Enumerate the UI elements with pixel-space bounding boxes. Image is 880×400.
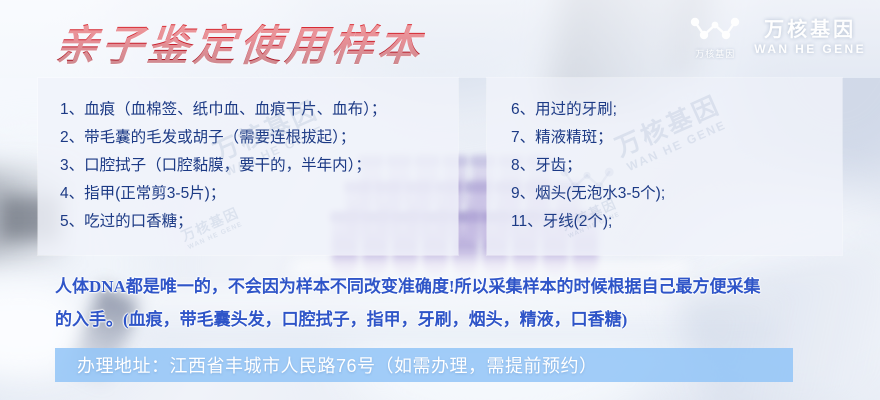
list-item: 9、烟头(无泡水3-5个);	[487, 180, 842, 208]
brand-logo: 万核基因 万核基因 WAN HE GENE	[688, 12, 866, 64]
page-title: 亲子鉴定使用样本	[53, 12, 427, 73]
molecule-icon	[688, 16, 742, 44]
address-text: 办理地址：江西省丰城市人民路76号（如需办理，需提前预约）	[55, 352, 598, 378]
logo-wordmark: 万核基因 WAN HE GENE	[754, 20, 866, 57]
list-item: 5、吃过的口香糖；	[38, 208, 458, 236]
poster-root: 亲子鉴定使用样本	[0, 0, 880, 400]
brand-name-cn: 万核基因	[764, 20, 856, 42]
list-item: 1、血痕（血棉签、纸巾血、血痕干片、血布）；	[38, 96, 458, 124]
note-line: 的入手。(血痕，带毛囊头发，口腔拭子，指甲，牙刷，烟头，精液，口香糖)	[55, 303, 845, 336]
sample-list-left: 1、血痕（血棉签、纸巾血、血痕干片、血布）； 2、带毛囊的毛发或胡子（需要连根拔…	[38, 78, 458, 236]
brand-name-en: WAN HE GENE	[754, 43, 866, 56]
list-item: 11、牙线(2个);	[487, 208, 842, 236]
list-item: 2、带毛囊的毛发或胡子（需要连根拔起）；	[38, 124, 458, 152]
list-item: 7、精液精斑；	[487, 124, 842, 152]
logo-mark: 万核基因	[688, 16, 742, 60]
watermark-molecule-icon	[557, 164, 617, 203]
sample-panel-right: 万核基因 WAN HE GENE 万核基因 WAN HE GENE	[487, 78, 842, 255]
list-item: 6、用过的牙刷;	[487, 96, 842, 124]
note-line: 人体DNA都是唯一的，不会因为样本不同改变准确度!所以采集样本的时候根据自己最方…	[55, 270, 845, 303]
list-item: 3、口腔拭子（口腔黏膜，要干的，半年内）；	[38, 152, 458, 180]
list-item: 4、指甲(正常剪3-5片)；	[38, 180, 458, 208]
sample-list-right: 6、用过的牙刷; 7、精液精斑； 8、牙齿； 9、烟头(无泡水3-5个); 11…	[487, 78, 842, 236]
logo-mark-label: 万核基因	[695, 47, 735, 60]
note-paragraph: 人体DNA都是唯一的，不会因为样本不同改变准确度!所以采集样本的时候根据自己最方…	[55, 270, 845, 336]
list-item: 8、牙齿；	[487, 152, 842, 180]
sample-panel-left: 万核基因 WAN HE GENE 万核基因 WAN HE GENE 1、血痕（血…	[38, 78, 458, 255]
address-bar: 办理地址：江西省丰城市人民路76号（如需办理，需提前预约）	[55, 348, 793, 382]
